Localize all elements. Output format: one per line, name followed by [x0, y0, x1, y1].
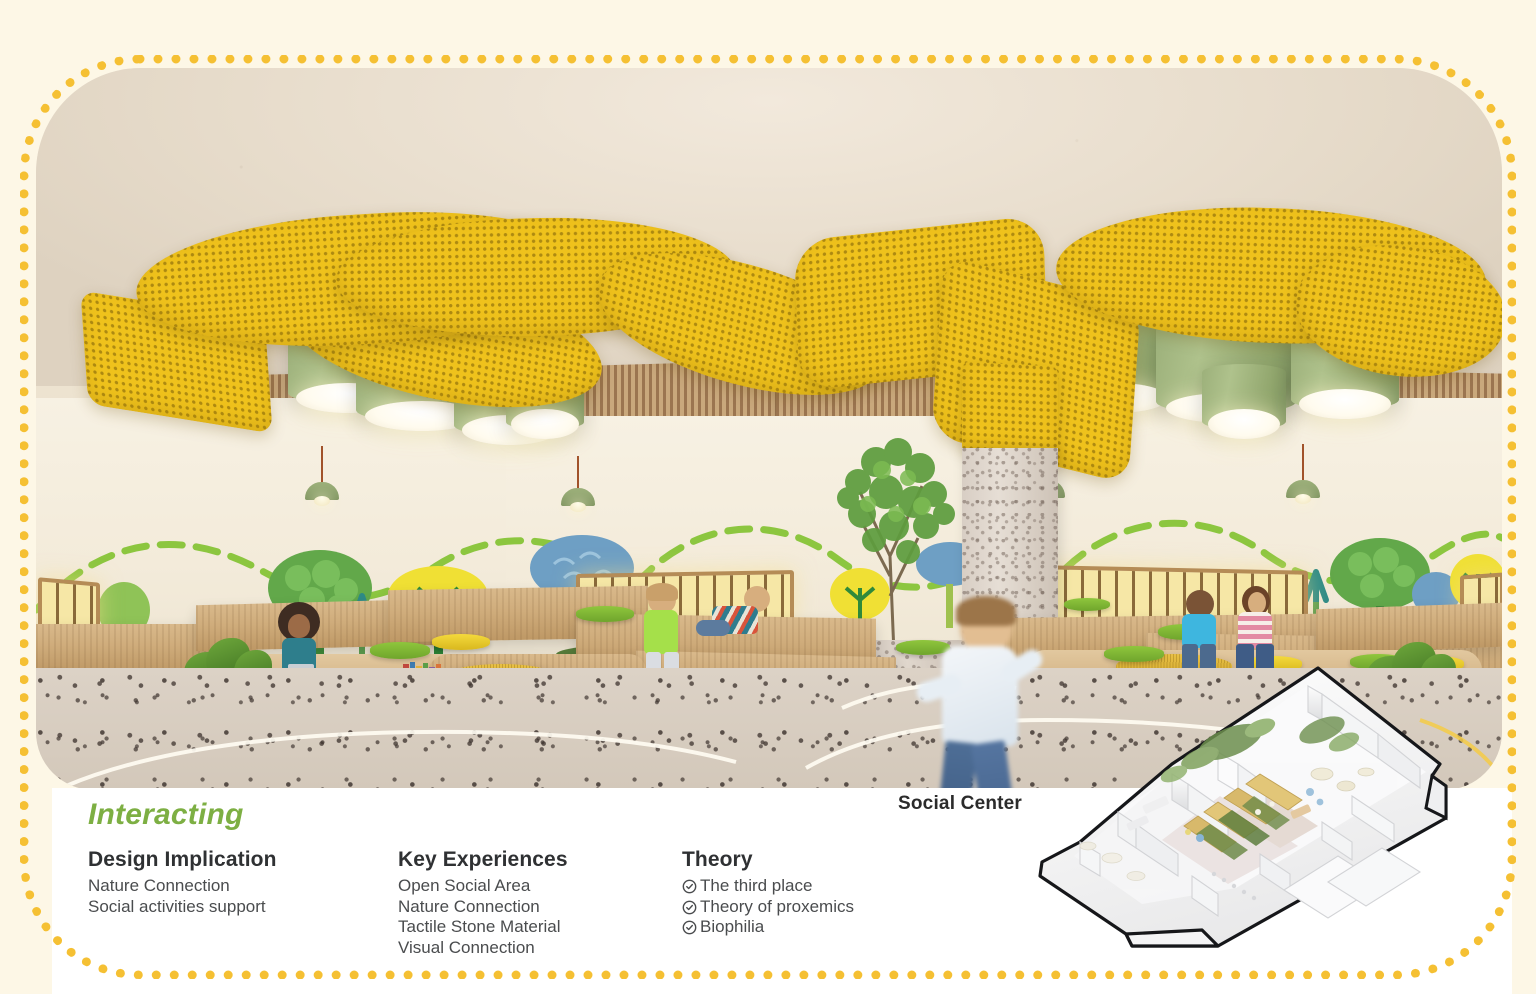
cylinder-luminaire-7	[1202, 364, 1286, 430]
list-item: Theory of proxemics	[682, 897, 854, 918]
section-title: Interacting	[88, 798, 244, 832]
check-circle-icon	[682, 879, 697, 894]
column-key-experiences: Key Experiences Open Social Area Nature …	[398, 848, 568, 959]
cushion-green-2	[576, 606, 634, 622]
design-implication-list: Nature Connection Social activities supp…	[88, 876, 277, 917]
key-experiences-list: Open Social Area Nature Connection Tacti…	[398, 876, 568, 959]
list-item: Nature Connection	[398, 897, 568, 918]
axonometric-floor-plan-model	[1022, 646, 1462, 976]
theory-list: The third place Theory of proxemics Biop…	[682, 876, 854, 938]
column-design-implication: Design Implication Nature Connection Soc…	[88, 848, 277, 917]
list-item: Nature Connection	[88, 876, 277, 897]
check-circle-icon	[682, 920, 697, 935]
cushion-green-7	[1064, 598, 1110, 611]
cushion-yellow-1	[432, 634, 490, 650]
pendant-cord-4	[1302, 444, 1304, 484]
column-theory: Theory The third place Theory of proxemi…	[682, 848, 854, 938]
list-item: Tactile Stone Material	[398, 917, 568, 938]
cushion-green-1	[370, 642, 430, 659]
design-implication-heading: Design Implication	[88, 848, 277, 872]
presentation-board: Social Center Interacting Design Implica…	[0, 0, 1536, 994]
theory-item-label: The third place	[700, 876, 812, 897]
list-item: Open Social Area	[398, 876, 568, 897]
pendant-cord-1	[321, 446, 323, 486]
theory-item-label: Theory of proxemics	[700, 897, 854, 918]
theory-item-label: Biophilia	[700, 917, 764, 938]
render-caption-social-center: Social Center	[898, 793, 1022, 815]
pendant-bulb-4	[1295, 494, 1311, 504]
list-item: Social activities support	[88, 897, 277, 918]
theory-heading: Theory	[682, 848, 854, 872]
pendant-bulb-1	[314, 496, 330, 506]
pendant-bulb-2	[570, 502, 586, 512]
list-item: The third place	[682, 876, 854, 897]
pendant-cord-2	[577, 456, 579, 492]
list-item: Biophilia	[682, 917, 854, 938]
list-item: Visual Connection	[398, 938, 568, 959]
key-experiences-heading: Key Experiences	[398, 848, 568, 872]
child-striped-shirt	[704, 586, 790, 646]
check-circle-icon	[682, 900, 697, 915]
